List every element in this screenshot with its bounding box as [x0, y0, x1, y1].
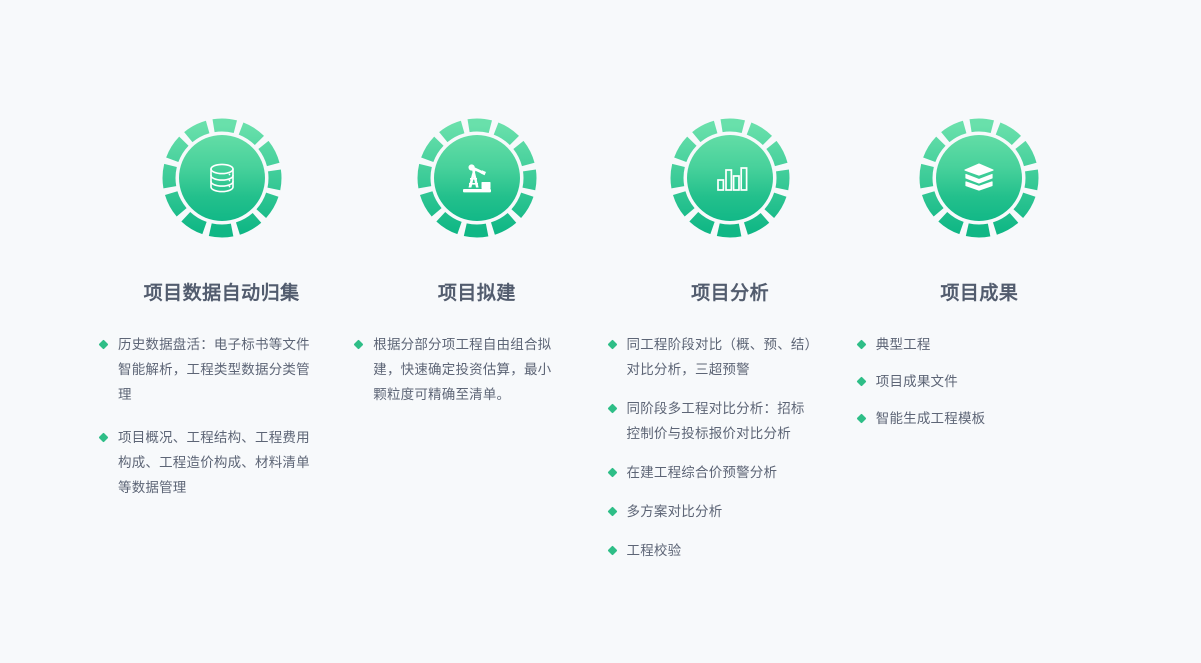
list-item-text: 典型工程 [876, 337, 931, 352]
bullet-diamond-icon [856, 340, 866, 350]
list-item: 项目成果文件 [858, 369, 1058, 394]
feature-icon-badge [417, 118, 537, 238]
bullet-diamond-icon [856, 414, 866, 424]
list-item-text: 同工程阶段对比（概、预、结）对比分析，三超预警 [627, 337, 812, 377]
bullet-diamond-icon [99, 340, 109, 350]
list-item: 在建工程综合价预警分析 [609, 460, 814, 485]
list-item: 典型工程 [858, 332, 1058, 357]
bar-chart-icon [708, 156, 752, 200]
features-section: 项目数据自动归集 历史数据盘活：电子标书等文件智能解析，工程类型数据分类管理 项… [0, 0, 1201, 663]
list-item-text: 项目概况、工程结构、工程费用构成、工程造价构成、材料清单等数据管理 [118, 430, 310, 495]
list-item: 智能生成工程模板 [858, 406, 1058, 431]
feature-title: 项目成果 [940, 281, 1018, 307]
feature-list: 同工程阶段对比（概、预、结）对比分析，三超预警 同阶段多工程对比分析：招标控制价… [609, 332, 814, 577]
oil-pumpjack-icon [455, 156, 499, 200]
list-item-text: 多方案对比分析 [627, 504, 723, 519]
books-stack-icon [957, 156, 1001, 200]
feature-icon-badge [919, 118, 1039, 238]
feature-column-project-planning: 项目拟建 根据分部分项工程自由组合拟建，快速确定投资估算，最小颗粒度可精确至清单… [355, 118, 598, 419]
feature-title: 项目拟建 [438, 281, 516, 307]
feature-list: 根据分部分项工程自由组合拟建，快速确定投资估算，最小颗粒度可精确至清单。 [355, 332, 555, 419]
feature-title: 项目分析 [691, 281, 769, 307]
bullet-diamond-icon [607, 404, 617, 414]
list-item: 项目概况、工程结构、工程费用构成、工程造价构成、材料清单等数据管理 [100, 425, 312, 500]
list-item: 同阶段多工程对比分析：招标控制价与投标报价对比分析 [609, 396, 814, 446]
bullet-diamond-icon [99, 433, 109, 443]
list-item: 工程校验 [609, 538, 814, 563]
bullet-diamond-icon [607, 468, 617, 478]
list-item-text: 同阶段多工程对比分析：招标控制价与投标报价对比分析 [627, 401, 805, 441]
bullet-diamond-icon [354, 340, 364, 350]
list-item: 历史数据盘活：电子标书等文件智能解析，工程类型数据分类管理 [100, 332, 312, 407]
feature-icon-badge [670, 118, 790, 238]
list-item-text: 历史数据盘活：电子标书等文件智能解析，工程类型数据分类管理 [118, 337, 310, 402]
feature-icon-badge [162, 118, 282, 238]
icon-core [179, 135, 265, 221]
list-item-text: 在建工程综合价预警分析 [627, 465, 778, 480]
database-icon [200, 156, 244, 200]
feature-list: 历史数据盘活：电子标书等文件智能解析，工程类型数据分类管理 项目概况、工程结构、… [100, 332, 312, 500]
bullet-diamond-icon [607, 546, 617, 556]
feature-list: 典型工程 项目成果文件 智能生成工程模板 [858, 332, 1058, 443]
feature-column-project-results: 项目成果 典型工程 项目成果文件 智能生成工程模板 [858, 118, 1101, 443]
list-item: 多方案对比分析 [609, 499, 814, 524]
icon-core [434, 135, 520, 221]
feature-column-project-analysis: 项目分析 同工程阶段对比（概、预、结）对比分析，三超预警 同阶段多工程对比分析：… [609, 118, 852, 577]
feature-column-project-data: 项目数据自动归集 历史数据盘活：电子标书等文件智能解析，工程类型数据分类管理 项… [100, 118, 343, 500]
list-item-text: 根据分部分项工程自由组合拟建，快速确定投资估算，最小颗粒度可精确至清单。 [373, 337, 551, 402]
bullet-diamond-icon [607, 340, 617, 350]
feature-title: 项目数据自动归集 [144, 281, 300, 307]
bullet-diamond-icon [856, 377, 866, 387]
list-item-text: 工程校验 [627, 543, 682, 558]
list-item-text: 项目成果文件 [876, 374, 958, 389]
icon-core [936, 135, 1022, 221]
list-item: 同工程阶段对比（概、预、结）对比分析，三超预警 [609, 332, 814, 382]
list-item: 根据分部分项工程自由组合拟建，快速确定投资估算，最小颗粒度可精确至清单。 [355, 332, 555, 407]
list-item-text: 智能生成工程模板 [876, 411, 986, 426]
icon-core [687, 135, 773, 221]
bullet-diamond-icon [607, 507, 617, 517]
